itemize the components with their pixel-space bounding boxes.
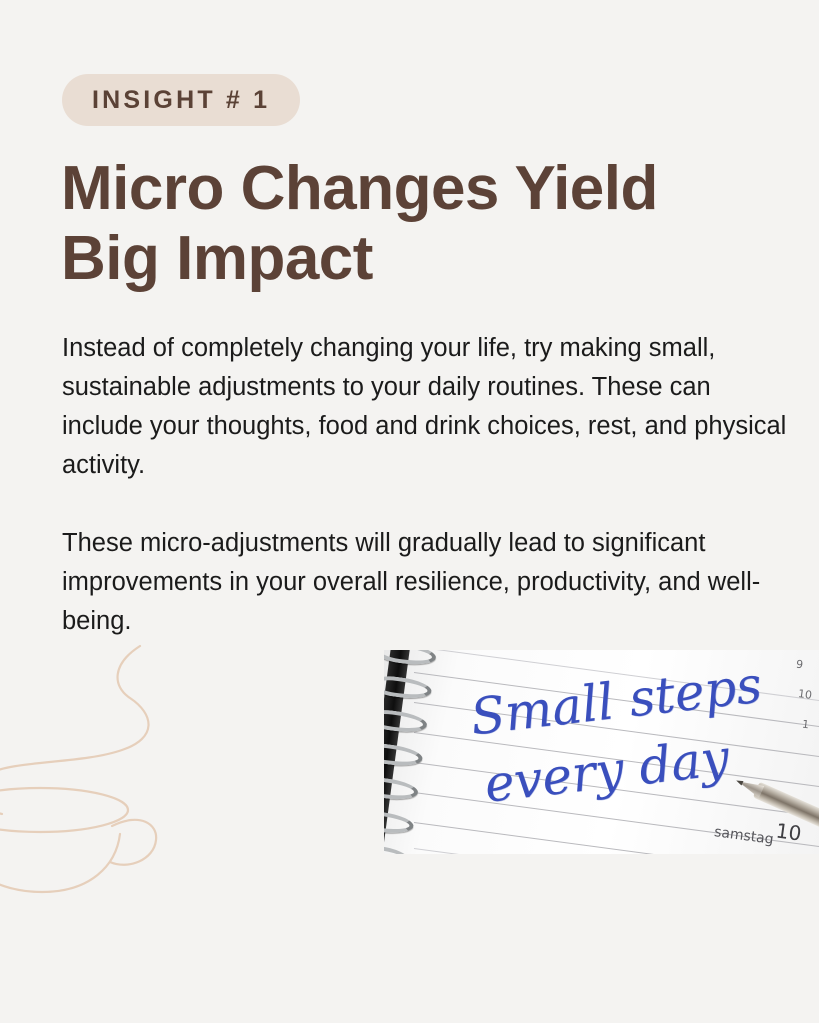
page-title: Micro Changes Yield Big Impact (61, 154, 761, 294)
notebook-date-number: 10 (775, 818, 803, 845)
coffee-cup-line-art-icon (0, 638, 162, 898)
insight-badge-label: INSIGHT # 1 (92, 88, 270, 113)
insight-slide: INSIGHT # 1 Micro Changes Yield Big Impa… (0, 0, 819, 1023)
body-paragraph-1: Instead of completely changing your life… (62, 329, 792, 485)
footer-progress: 1/3 (0, 930, 819, 1022)
body-copy: Instead of completely changing your life… (62, 329, 792, 641)
page-title-line-2: Big Impact (61, 224, 761, 294)
body-paragraph-2: These micro-adjustments will gradually l… (62, 524, 792, 641)
page-title-line-1: Micro Changes Yield (61, 154, 761, 224)
margin-number-10: 10 (797, 687, 813, 702)
notebook-photo: Small steps every day 9 10 1 samstag 10 (384, 650, 819, 854)
insight-badge: INSIGHT # 1 (62, 74, 300, 126)
